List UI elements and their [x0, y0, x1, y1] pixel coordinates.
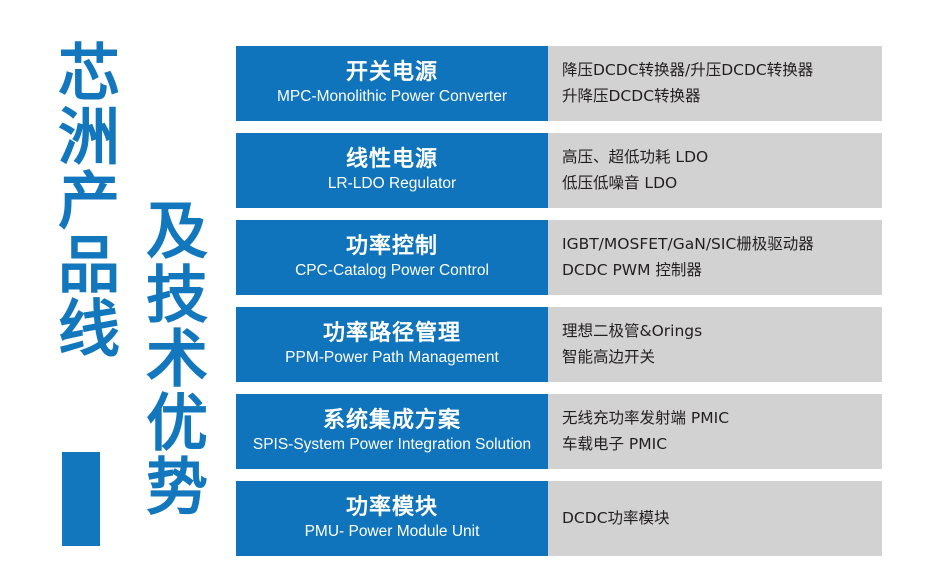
- product-description-panel[interactable]: IGBT/MOSFET/GaN/SIC栅极驱动器 DCDC PWM 控制器: [548, 220, 882, 295]
- product-row[interactable]: 功率控制 CPC-Catalog Power Control IGBT/MOSF…: [236, 220, 882, 295]
- product-description-line: 升降压DCDC转换器: [562, 84, 882, 109]
- product-category-panel[interactable]: 开关电源 MPC-Monolithic Power Converter: [236, 46, 548, 121]
- product-description-panel[interactable]: 无线充功率发射端 PMIC 车载电子 PMIC: [548, 394, 882, 469]
- product-description-line: 理想二极管&Orings: [562, 319, 882, 344]
- product-row[interactable]: 线性电源 LR-LDO Regulator 高压、超低功耗 LDO 低压低噪音 …: [236, 133, 882, 208]
- product-line-list: 开关电源 MPC-Monolithic Power Converter 降压DC…: [236, 46, 882, 568]
- product-description-panel[interactable]: 理想二极管&Orings 智能高边开关: [548, 307, 882, 382]
- product-category-panel[interactable]: 线性电源 LR-LDO Regulator: [236, 133, 548, 208]
- product-description-panel[interactable]: 降压DCDC转换器/升压DCDC转换器 升降压DCDC转换器: [548, 46, 882, 121]
- product-category-panel[interactable]: 功率控制 CPC-Catalog Power Control: [236, 220, 548, 295]
- product-description-line: 车载电子 PMIC: [562, 432, 882, 457]
- product-category-cn: 功率模块: [346, 495, 438, 522]
- product-row[interactable]: 功率路径管理 PPM-Power Path Management 理想二极管&O…: [236, 307, 882, 382]
- product-description-line: 智能高边开关: [562, 345, 882, 370]
- product-category-en: PPM-Power Path Management: [285, 348, 499, 368]
- product-category-en: CPC-Catalog Power Control: [295, 261, 489, 281]
- product-description-line: 高压、超低功耗 LDO: [562, 145, 882, 170]
- product-category-en: LR-LDO Regulator: [328, 174, 456, 194]
- slide-canvas: 芯洲产品线 及技术优势 开关电源 MPC-Monolithic Power Co…: [0, 0, 930, 546]
- product-description-line: 无线充功率发射端 PMIC: [562, 406, 882, 431]
- product-category-en: SPIS-System Power Integration Solution: [253, 435, 531, 455]
- product-description-panel[interactable]: DCDC功率模块: [548, 481, 882, 556]
- page-title-primary: 芯洲产品线: [52, 40, 114, 360]
- product-category-cn: 系统集成方案: [323, 408, 461, 435]
- product-category-cn: 功率控制: [346, 234, 438, 261]
- product-description-line: 降压DCDC转换器/升压DCDC转换器: [562, 58, 882, 83]
- product-description-line: DCDC功率模块: [562, 508, 882, 528]
- product-description-panel[interactable]: 高压、超低功耗 LDO 低压低噪音 LDO: [548, 133, 882, 208]
- page-title-secondary: 及技术优势: [140, 198, 202, 518]
- slide-title-block: 芯洲产品线 及技术优势: [0, 0, 230, 546]
- product-category-en: PMU- Power Module Unit: [305, 522, 480, 542]
- product-description-line: IGBT/MOSFET/GaN/SIC栅极驱动器: [562, 232, 882, 257]
- product-category-cn: 开关电源: [346, 60, 438, 87]
- product-category-panel[interactable]: 功率路径管理 PPM-Power Path Management: [236, 307, 548, 382]
- product-category-panel[interactable]: 系统集成方案 SPIS-System Power Integration Sol…: [236, 394, 548, 469]
- product-category-cn: 功率路径管理: [323, 321, 461, 348]
- product-category-en: MPC-Monolithic Power Converter: [277, 87, 507, 107]
- product-row[interactable]: 功率模块 PMU- Power Module Unit DCDC功率模块: [236, 481, 882, 556]
- product-description-line: DCDC PWM 控制器: [562, 258, 882, 283]
- product-row[interactable]: 系统集成方案 SPIS-System Power Integration Sol…: [236, 394, 882, 469]
- product-row[interactable]: 开关电源 MPC-Monolithic Power Converter 降压DC…: [236, 46, 882, 121]
- product-description-line: 低压低噪音 LDO: [562, 171, 882, 196]
- product-category-cn: 线性电源: [346, 147, 438, 174]
- accent-bar: [62, 452, 100, 546]
- product-category-panel[interactable]: 功率模块 PMU- Power Module Unit: [236, 481, 548, 556]
